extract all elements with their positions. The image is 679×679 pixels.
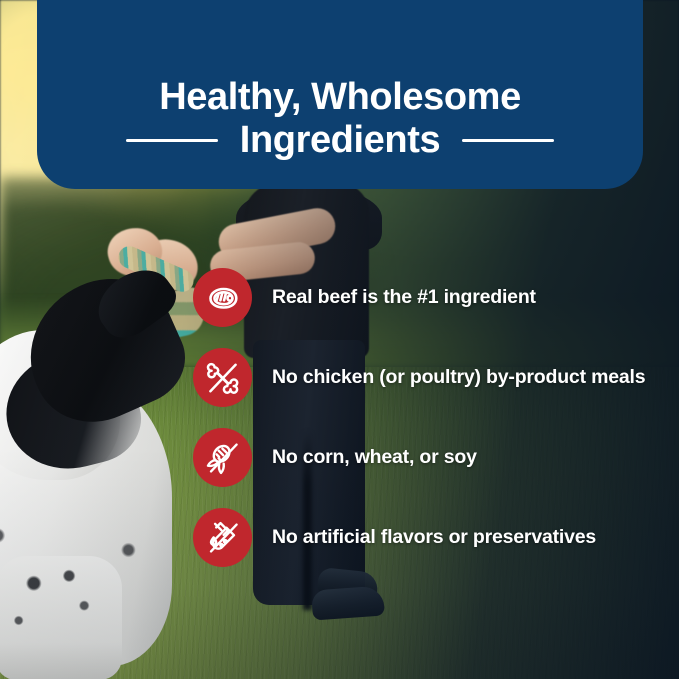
steak-icon bbox=[193, 268, 252, 327]
title-rule-right bbox=[462, 139, 554, 142]
list-item-label: No chicken (or poultry) by-product meals bbox=[272, 366, 645, 389]
list-item: Real beef is the #1 ingredient bbox=[193, 268, 679, 327]
page-title-line-2: Ingredients bbox=[240, 120, 440, 161]
no-bone-icon bbox=[193, 348, 252, 407]
header-panel: Healthy, Wholesome Ingredients bbox=[37, 0, 643, 189]
list-item-label: Real beef is the #1 ingredient bbox=[272, 286, 536, 309]
page-title-line-1: Healthy, Wholesome bbox=[159, 77, 521, 118]
no-test-tube-icon bbox=[193, 508, 252, 567]
list-item-label: No corn, wheat, or soy bbox=[272, 446, 477, 469]
list-item: No chicken (or poultry) by-product meals bbox=[193, 348, 679, 407]
ingredient-claims-list: Real beef is the #1 ingredient No chicke… bbox=[193, 268, 679, 567]
ingredients-promo-poster: Healthy, Wholesome Ingredients Real beef… bbox=[0, 0, 679, 679]
list-item-label: No artificial flavors or preservatives bbox=[272, 526, 596, 549]
page-title-row-2: Ingredients bbox=[37, 120, 643, 161]
title-rule-left bbox=[126, 139, 218, 142]
no-corn-icon bbox=[193, 428, 252, 487]
list-item: No artificial flavors or preservatives bbox=[193, 508, 679, 567]
list-item: No corn, wheat, or soy bbox=[193, 428, 679, 487]
